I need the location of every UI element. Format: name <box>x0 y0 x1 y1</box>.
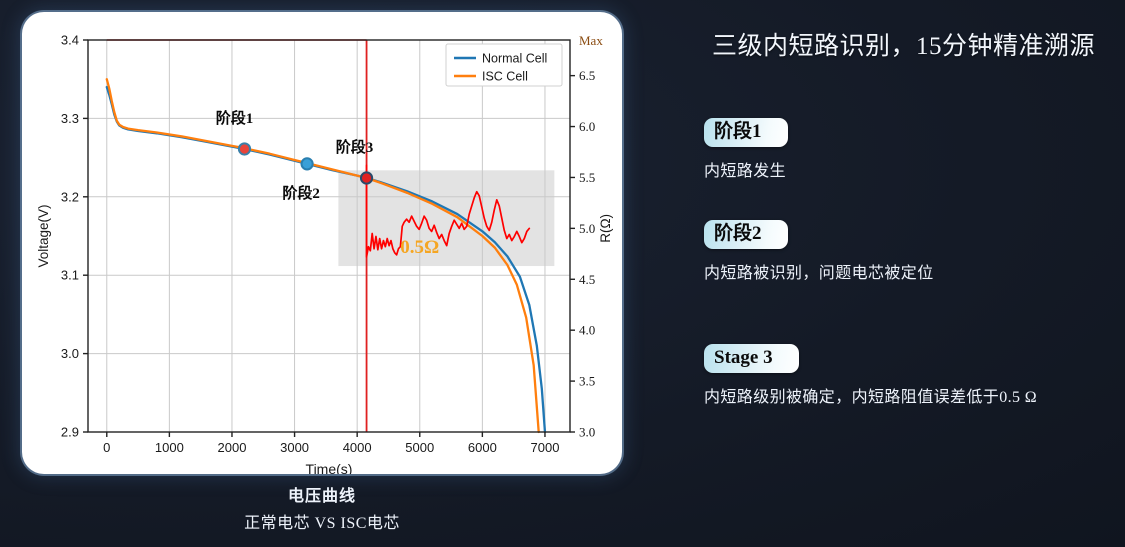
x-tick-label: 6000 <box>468 440 497 455</box>
x-tick-label: 0 <box>103 440 110 455</box>
presentation-slide: 0.5Ω2.93.03.13.23.33.43.03.54.04.55.05.5… <box>0 0 1125 547</box>
y-tick-label: 2.9 <box>61 425 79 440</box>
panel-title: 三级内短路识别，15分钟精准溯源 <box>712 26 1095 62</box>
stage-block-3: Stage 3 内短路级别被确定，内短路阻值误差低于0.5 Ω <box>704 344 1124 407</box>
y-tick-label: 3.0 <box>61 346 79 361</box>
x-tick-label: 3000 <box>280 440 309 455</box>
stage-desc-3: 内短路级别被确定，内短路阻值误差低于0.5 Ω <box>704 383 1124 407</box>
y2-tick-label: 6.5 <box>579 68 595 83</box>
chart-canvas: 0.5Ω2.93.03.13.23.33.43.03.54.04.55.05.5… <box>22 12 622 474</box>
y2-tick-label: 3.5 <box>579 374 595 389</box>
stage-marker-3[interactable] <box>361 172 372 183</box>
stage-badge-1: 阶段1 <box>704 118 788 147</box>
x-axis-title: Time(s) <box>306 461 353 474</box>
voltage-resistance-chart: 0.5Ω2.93.03.13.23.33.43.03.54.04.55.05.5… <box>22 12 622 474</box>
tolerance-band <box>338 170 554 266</box>
y2-tick-label: 6.0 <box>579 119 595 134</box>
caption-title: 电压曲线 <box>22 482 622 506</box>
legend-label-1: Normal Cell <box>482 52 547 66</box>
stage-block-1: 阶段1 内短路发生 <box>704 118 1124 181</box>
y2-max-label: Max <box>579 33 603 48</box>
y-axis-title: Voltage(V) <box>36 204 51 267</box>
y-tick-label: 3.3 <box>61 111 79 126</box>
y2-tick-label: 5.5 <box>579 170 595 185</box>
y2-tick-label: 4.5 <box>579 272 595 287</box>
stage-annotation-label-1: 阶段1 <box>216 109 254 127</box>
y-tick-label: 3.4 <box>61 33 79 48</box>
resistance-tolerance-label: 0.5Ω <box>400 237 439 258</box>
x-tick-label: 2000 <box>218 440 247 455</box>
x-tick-label: 5000 <box>405 440 434 455</box>
stage-badge-2: 阶段2 <box>704 220 788 249</box>
x-tick-label: 4000 <box>343 440 372 455</box>
stage-desc-1: 内短路发生 <box>704 157 1124 181</box>
chart-card: 0.5Ω2.93.03.13.23.33.43.03.54.04.55.05.5… <box>22 12 622 474</box>
y2-tick-label: 3.0 <box>579 425 595 440</box>
chart-caption: 电压曲线 正常电芯 VS ISC电芯 <box>22 482 622 533</box>
stage-marker-1[interactable] <box>239 143 250 154</box>
y2-tick-label: 4.0 <box>579 323 595 338</box>
x-tick-label: 7000 <box>531 440 560 455</box>
x-tick-label: 1000 <box>155 440 184 455</box>
y2-tick-label: 5.0 <box>579 221 595 236</box>
stage-desc-2: 内短路被识别，问题电芯被定位 <box>704 259 1124 283</box>
info-panel: 三级内短路识别，15分钟精准溯源 阶段1 内短路发生 阶段2 内短路被识别，问题… <box>700 0 1125 547</box>
stage-annotation-label-3: 阶段3 <box>336 138 374 156</box>
caption-subtitle: 正常电芯 VS ISC电芯 <box>22 509 622 533</box>
stage-annotation-label-2: 阶段2 <box>282 184 320 202</box>
stage-marker-2[interactable] <box>301 158 312 169</box>
y-tick-label: 3.1 <box>61 268 79 283</box>
legend-label-2: ISC Cell <box>482 70 528 84</box>
y-tick-label: 3.2 <box>61 189 79 204</box>
stage-block-2: 阶段2 内短路被识别，问题电芯被定位 <box>704 220 1124 283</box>
stage-badge-3: Stage 3 <box>704 344 799 373</box>
y2-axis-title: R(Ω) <box>598 214 613 243</box>
